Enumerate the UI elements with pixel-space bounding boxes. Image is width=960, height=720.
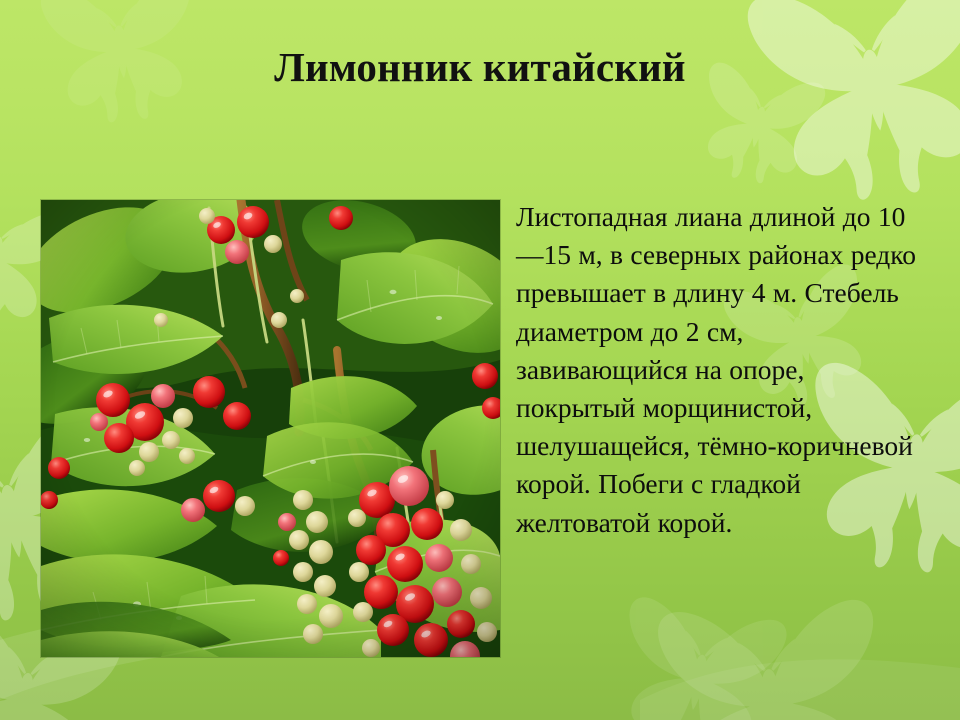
presentation-slide: Лимонник китайский (0, 0, 960, 720)
description-text: Листопадная лиана длиной до 10—15 м, в с… (516, 198, 916, 542)
slide-title: Лимонник китайский (0, 44, 960, 91)
plant-photo (41, 200, 500, 657)
plant-photo-image (41, 200, 500, 657)
description-paragraph: Листопадная лиана длиной до 10—15 м, в с… (516, 198, 916, 542)
slide-title-text: Лимонник китайский (274, 44, 685, 91)
